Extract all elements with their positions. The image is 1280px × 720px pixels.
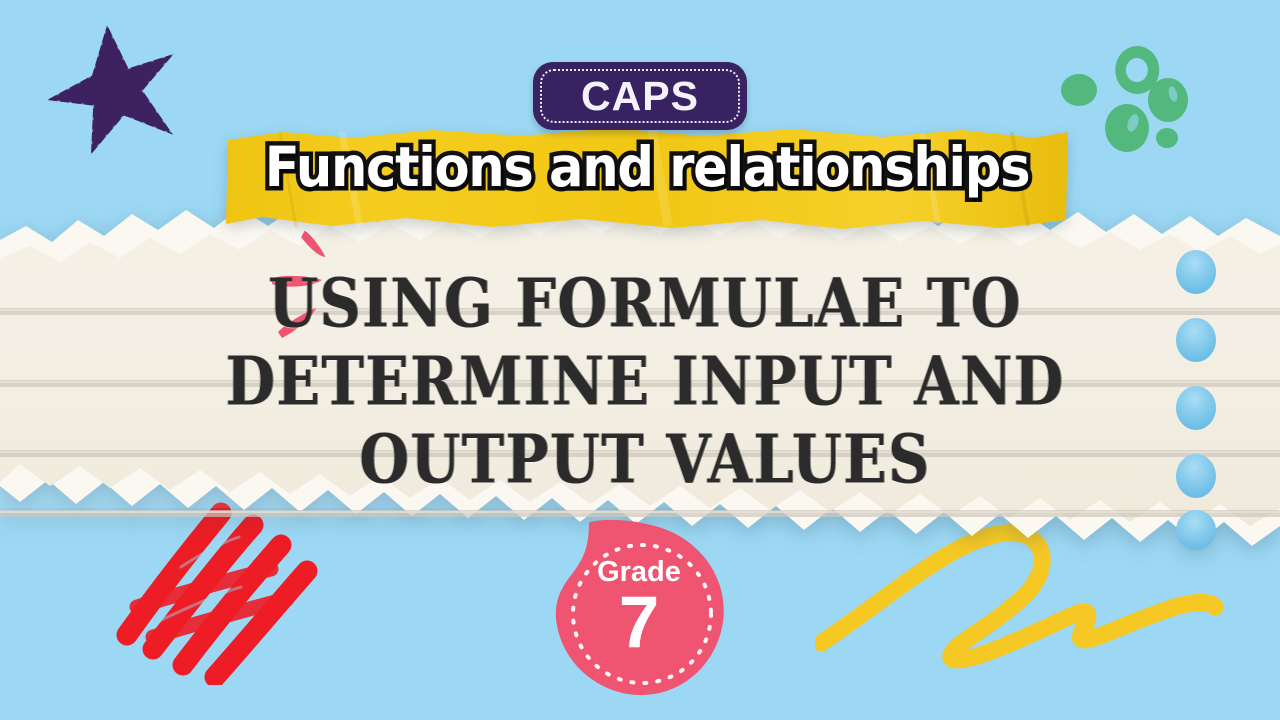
title-line-3: output values [10, 414, 1280, 506]
curriculum-badge: CAPS [533, 62, 747, 130]
page-title: Using formulae to determine input and ou… [0, 258, 1280, 492]
topic-banner: Functions and relationships [222, 124, 1072, 234]
grade-badge-number: 7 [551, 589, 727, 656]
grade-badge: Grade 7 [551, 518, 727, 696]
topic-banner-label: Functions and relationships [252, 140, 1043, 195]
slide-canvas: Using formulae to determine input and ou… [0, 0, 1280, 720]
curriculum-badge-label: CAPS [581, 76, 699, 117]
